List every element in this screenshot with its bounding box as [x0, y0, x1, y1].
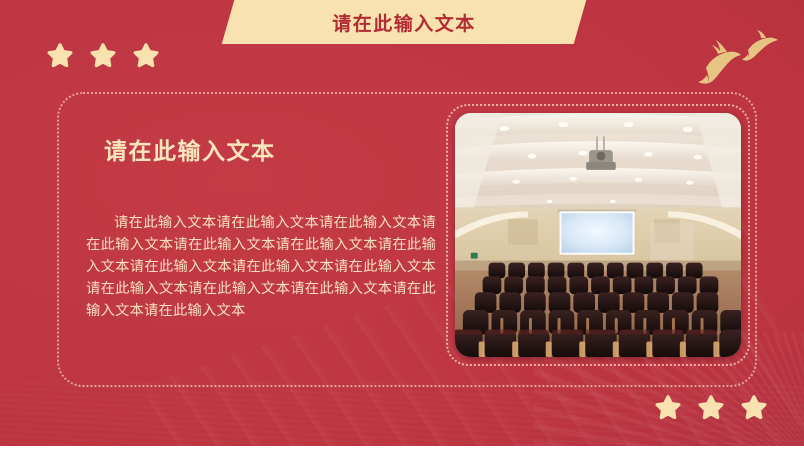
stars-top-left	[47, 42, 167, 70]
auditorium-photo: auditorium lecture hall with projection …	[455, 113, 741, 357]
star-icon	[698, 394, 724, 420]
bottom-white-strip	[0, 446, 804, 452]
star-icon	[90, 42, 116, 68]
star-icon	[655, 394, 681, 420]
photo-alt-text: auditorium lecture hall with projection …	[455, 113, 456, 114]
photo-dotted-frame: auditorium lecture hall with projection …	[446, 104, 750, 366]
content-heading: 请在此输入文本	[104, 132, 436, 166]
star-icon	[133, 42, 159, 68]
star-icon	[741, 394, 767, 420]
slide-canvas: 请在此输入文本	[0, 0, 804, 452]
content-paragraph: 请在此输入文本请在此输入文本请在此输入文本请在此输入文本请在此输入文本请在此输入…	[86, 212, 436, 322]
star-icon	[47, 42, 73, 68]
stars-bottom-right	[655, 394, 775, 422]
slide-title: 请在此输入文本	[228, 0, 580, 44]
text-column: 请在此输入文本 请在此输入文本请在此输入文本请在此输入文本请在此输入文本请在此输…	[86, 132, 436, 322]
